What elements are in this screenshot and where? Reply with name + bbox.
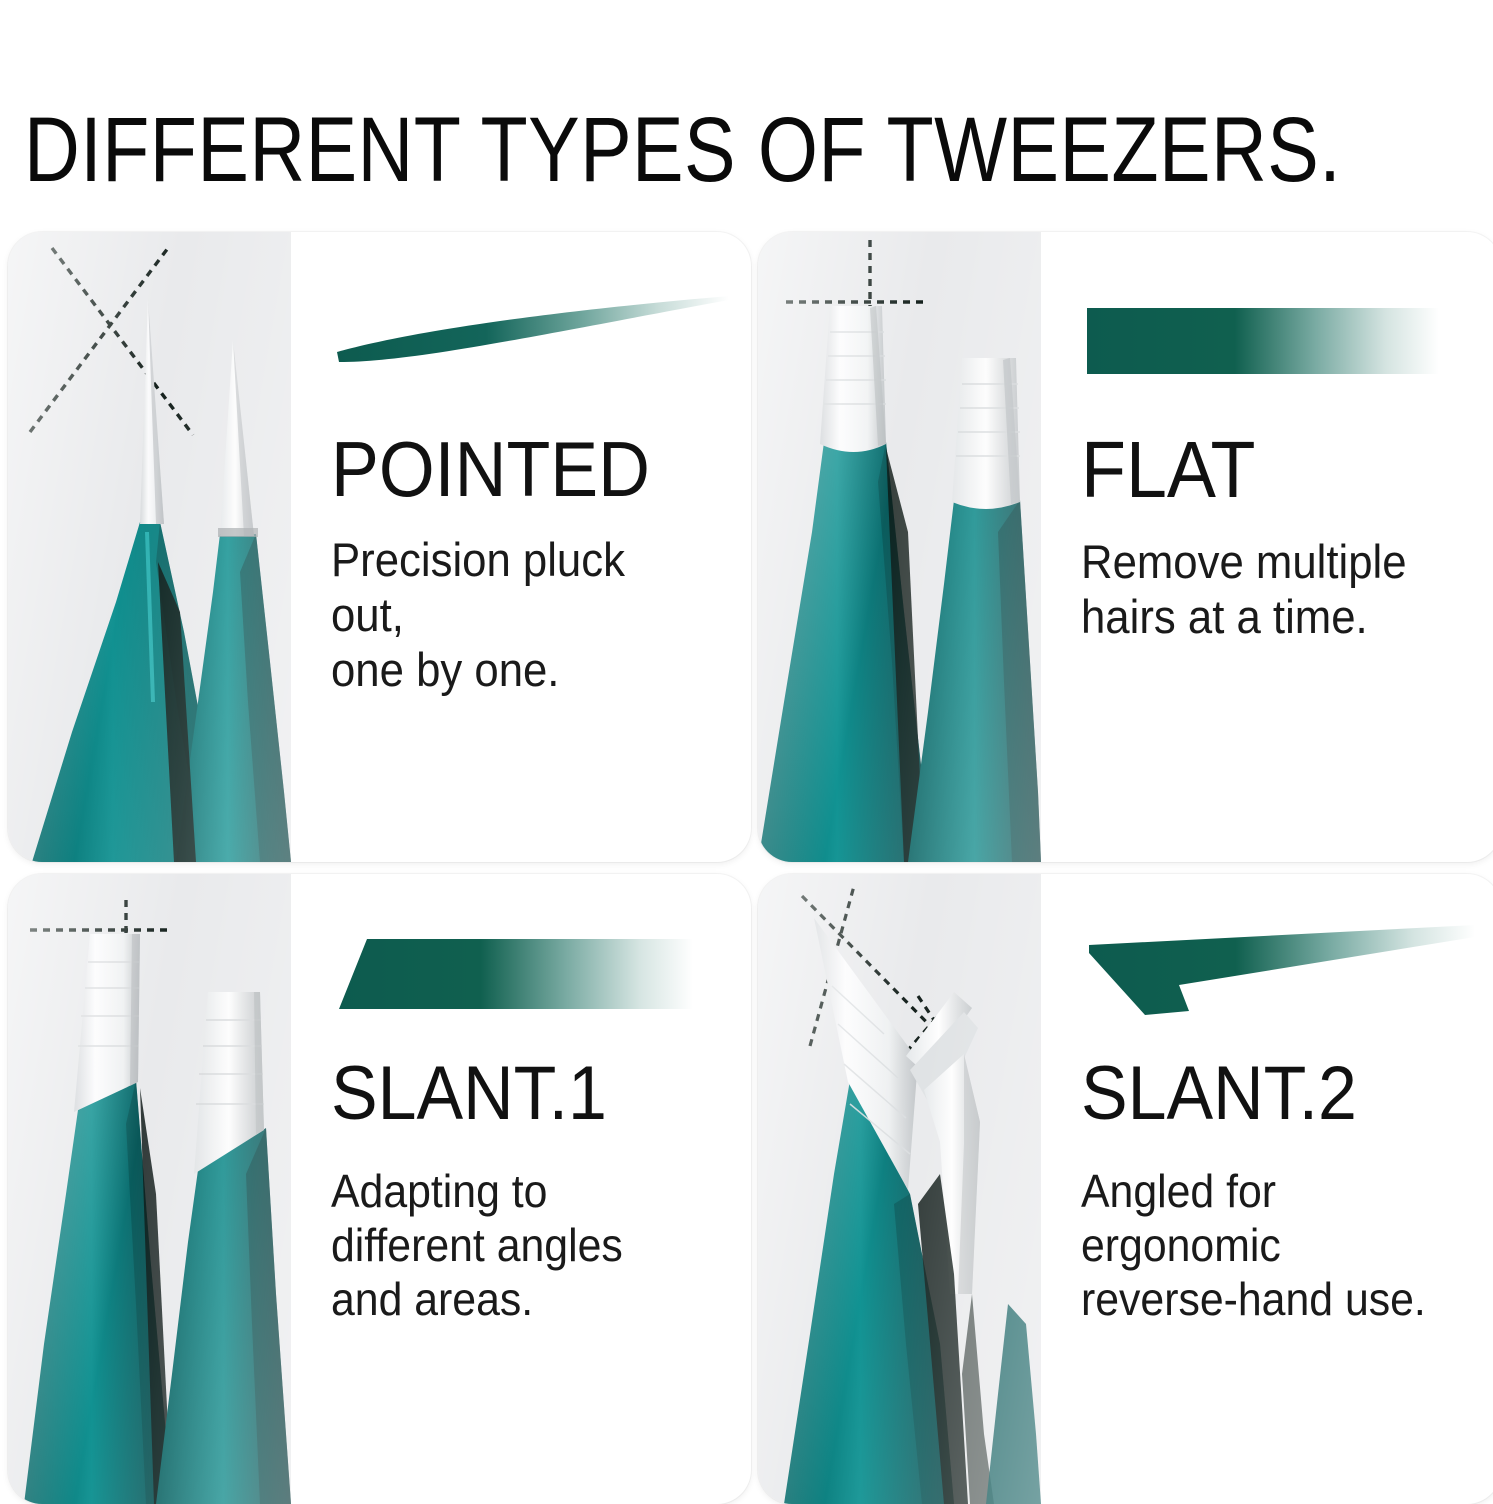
title-text: DIFFERENT TYPES OF TWEEZERS. bbox=[24, 104, 1341, 196]
content-flat: FLAT Remove multiple hairs at a time. bbox=[1041, 232, 1493, 862]
tip-shape-pointed-wrap bbox=[327, 260, 733, 428]
content-pointed: POINTED Precision pluck out, one by one. bbox=[291, 232, 751, 862]
slant-parallelogram-shape-icon bbox=[333, 923, 733, 1033]
tip-shape-slant-1-wrap bbox=[327, 902, 733, 1054]
card-slant-2[interactable]: SLANT.2 Angled for ergonomic reverse-han… bbox=[758, 874, 1493, 1504]
flat-rectangle-shape-icon bbox=[1083, 284, 1483, 404]
card-description-slant-2: Angled for ergonomic reverse-hand use. bbox=[1081, 1165, 1455, 1326]
photo-panel-slant-2 bbox=[758, 874, 1041, 1504]
card-description-flat: Remove multiple hairs at a time. bbox=[1081, 535, 1455, 645]
page-header: 4 DIFFERENT TYPES OF TWEEZERS. bbox=[0, 0, 1493, 212]
content-slant-1: SLANT.1 Adapting to different angles and… bbox=[291, 874, 751, 1504]
photo-panel-flat bbox=[758, 232, 1041, 862]
tip-shape-slant-2-wrap bbox=[1077, 902, 1483, 1054]
tweezer-type-grid: POINTED Precision pluck out, one by one. bbox=[0, 212, 1493, 1493]
card-description-slant-1: Adapting to different angles and areas. bbox=[331, 1165, 705, 1326]
card-description-pointed: Precision pluck out, one by one. bbox=[331, 533, 705, 698]
dashed-x-crosshair-icon bbox=[30, 248, 193, 435]
card-title-slant-1: SLANT.1 bbox=[331, 1058, 701, 1131]
card-title-slant-2: SLANT.2 bbox=[1081, 1058, 1451, 1131]
tip-shape-flat-wrap bbox=[1077, 260, 1483, 428]
card-title-pointed: POINTED bbox=[331, 432, 701, 507]
slant-1-tweezer-illustration bbox=[8, 874, 291, 1504]
card-flat[interactable]: FLAT Remove multiple hairs at a time. bbox=[758, 232, 1493, 862]
page-title: 4 DIFFERENT TYPES OF TWEEZERS. bbox=[0, 16, 1493, 212]
slant-2-tweezer-illustration bbox=[758, 874, 1041, 1504]
card-slant-1[interactable]: SLANT.1 Adapting to different angles and… bbox=[8, 874, 751, 1504]
slant-arrow-shape-icon bbox=[1083, 923, 1483, 1033]
card-title-flat: FLAT bbox=[1081, 432, 1451, 509]
content-slant-2: SLANT.2 Angled for ergonomic reverse-han… bbox=[1041, 874, 1493, 1504]
pointed-taper-shape-icon bbox=[333, 284, 733, 404]
photo-panel-pointed bbox=[8, 232, 291, 862]
photo-panel-slant-1 bbox=[8, 874, 291, 1504]
card-pointed[interactable]: POINTED Precision pluck out, one by one. bbox=[8, 232, 751, 862]
flat-tweezer-illustration bbox=[758, 232, 1041, 862]
pointed-tweezer-illustration bbox=[8, 232, 291, 862]
